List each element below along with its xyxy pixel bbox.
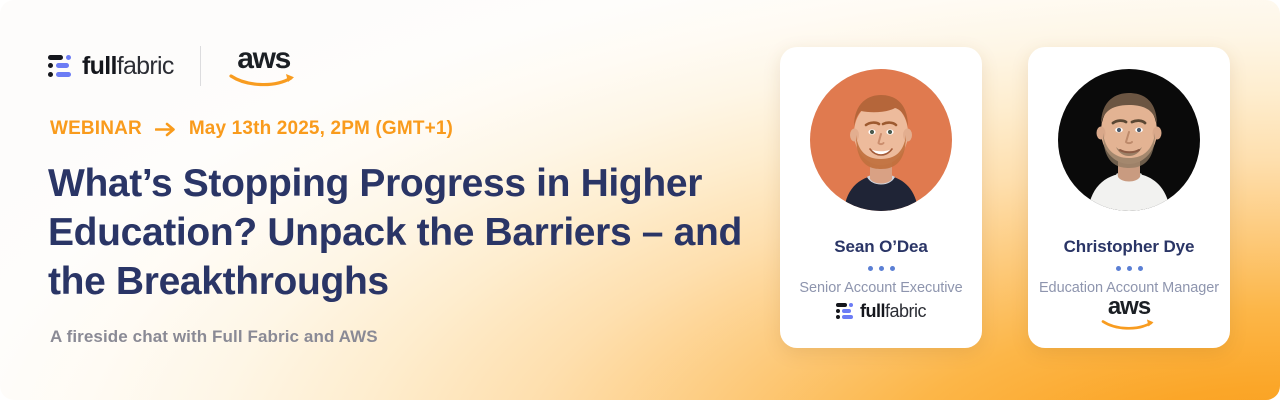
fullfabric-logo-card: fullfabric (836, 302, 926, 320)
speaker-company-logo: fullfabric (836, 296, 926, 326)
aws-smile-icon (1101, 318, 1158, 331)
banner-left-column: fullfabric aws WEBINAR May 13th 2025, 2 (48, 0, 748, 400)
brand-logo-row: fullfabric aws (48, 44, 301, 88)
page-subtitle: A fireside chat with Full Fabric and AWS (50, 327, 378, 347)
eyebrow-label: WEBINAR (50, 118, 142, 140)
dots-divider-icon (1116, 266, 1143, 271)
logo-divider (200, 46, 201, 86)
aws-logo-card: aws (1100, 296, 1158, 330)
speaker-name: Christopher Dye (1064, 237, 1195, 257)
fullfabric-logo: fullfabric (48, 54, 174, 79)
avatar (810, 69, 952, 211)
avatar (1058, 69, 1200, 211)
eyebrow-row: WEBINAR May 13th 2025, 2PM (GMT+1) (50, 118, 453, 140)
fullfabric-word-regular: fabric (885, 301, 926, 321)
arrow-right-icon (155, 122, 176, 137)
speaker-card-christopher-dye[interactable]: Christopher Dye Education Account Manage… (1028, 47, 1230, 348)
speaker-role: Senior Account Executive (799, 280, 962, 296)
page-title: What’s Stopping Progress in Higher Educa… (48, 160, 748, 306)
speaker-company-logo: aws (1100, 296, 1158, 330)
fullfabric-word-bold: full (82, 52, 117, 80)
aws-wordmark: aws (1108, 296, 1150, 318)
dots-divider-icon (868, 266, 895, 271)
fullfabric-word-bold: full (860, 301, 885, 321)
aws-smile-icon (228, 72, 300, 88)
fullfabric-word-regular: fabric (117, 52, 174, 80)
speaker-name: Sean O’Dea (834, 237, 928, 257)
fullfabric-mark-icon (48, 55, 73, 78)
webinar-banner: fullfabric aws WEBINAR May 13th 2025, 2 (0, 0, 1280, 400)
speaker-card-sean-odea[interactable]: Sean O’Dea Senior Account Executive full… (780, 47, 982, 348)
fullfabric-mark-icon (836, 303, 854, 320)
eyebrow-datetime: May 13th 2025, 2PM (GMT+1) (189, 118, 453, 140)
speaker-card-list: Sean O’Dea Senior Account Executive full… (780, 47, 1230, 348)
fullfabric-wordmark: fullfabric (82, 54, 174, 79)
aws-wordmark: aws (237, 45, 290, 72)
aws-logo: aws (227, 45, 301, 87)
